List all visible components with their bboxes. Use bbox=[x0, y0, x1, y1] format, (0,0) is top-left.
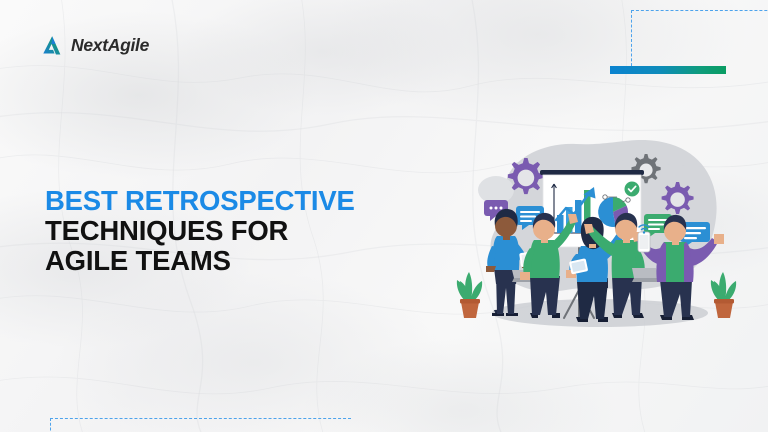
page-title: BEST RETROSPECTIVE TECHNIQUES FOR AGILE … bbox=[45, 186, 445, 276]
nextagile-arrow-logo-icon bbox=[41, 34, 64, 57]
gradient-accent-bar bbox=[610, 66, 726, 74]
brand-wordmark: NextAgile bbox=[71, 37, 149, 55]
brand-logo[interactable]: NextAgile bbox=[41, 34, 149, 57]
agile-team-presentation-illustration bbox=[448, 132, 748, 337]
slide-canvas: NextAgile BEST RETROSPECTIVE TECHNIQUES … bbox=[0, 0, 768, 432]
headline-line-2: TECHNIQUES FOR bbox=[45, 216, 445, 246]
gear-purple-left bbox=[508, 158, 544, 194]
potted-plant-left bbox=[457, 272, 482, 318]
potted-plant-right bbox=[711, 272, 736, 318]
gear-purple-right bbox=[662, 182, 694, 214]
laptop-icon bbox=[632, 268, 658, 278]
headline-line-3: AGILE TEAMS bbox=[45, 246, 445, 276]
illustration-svg bbox=[448, 132, 748, 337]
headline-line-1: BEST RETROSPECTIVE bbox=[45, 186, 445, 216]
check-circle-icon bbox=[625, 182, 640, 197]
